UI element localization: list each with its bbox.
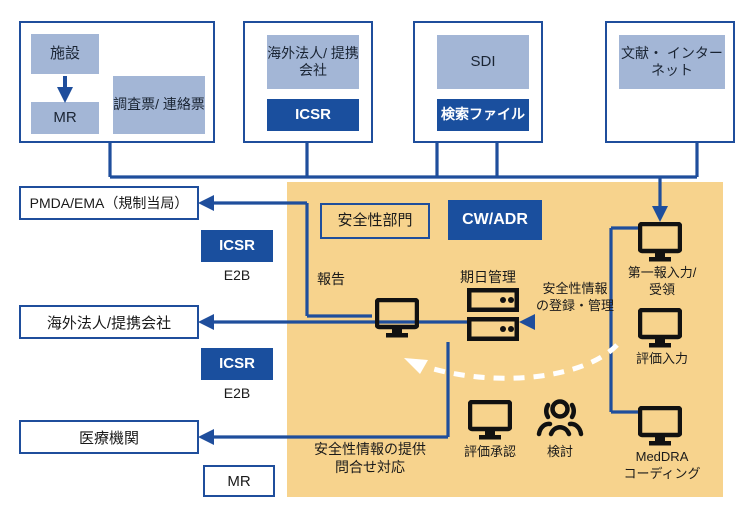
facility-to-mr-arrow — [21, 23, 217, 145]
badge-icsr-2: ICSR — [201, 348, 273, 380]
station-label-meddra-coding: MedDRA コーディング — [608, 449, 716, 483]
arrow-to-medical-institution — [198, 429, 214, 445]
flow-label-provide-info: 安全性情報の提供 問合せ対応 — [294, 440, 446, 476]
source-box-literature: 文献・ インターネット — [605, 21, 735, 143]
server-rack-icon-2 — [467, 317, 519, 341]
diagram-canvas: 施設 MR 調査票/ 連絡票 海外法人/ 提携会社 ICSR SDI 検索ファイ… — [0, 0, 750, 520]
source-box-facility: 施設 MR 調査票/ 連絡票 — [19, 21, 215, 143]
arrow-to-pmda — [198, 195, 214, 211]
target-box-pmda: PMDA/EMA（規制当局） — [19, 186, 199, 220]
arrow-into-first-report — [652, 206, 668, 222]
target-label-medical-institution: 医療機関 — [79, 427, 139, 448]
badge-sub-e2b-2: E2B — [201, 384, 273, 402]
source-box-sdi: SDI 検索ファイル — [413, 21, 543, 143]
monitor-icon-evaluation-input — [638, 308, 682, 348]
target-label-pmda: PMDA/EMA（規制当局） — [30, 193, 189, 213]
station-label-first-report-input: 第一報入力/ 受領 — [612, 265, 712, 299]
arrow-to-overseas-affiliate — [198, 314, 214, 330]
chip-literature-internet: 文献・ インターネット — [619, 35, 725, 89]
flow-label-report: 報告 — [296, 270, 366, 288]
badge-icsr-1: ICSR — [201, 230, 273, 262]
label-mr-bottom: MR — [227, 473, 250, 490]
chip-sdi: SDI — [437, 35, 529, 89]
chip-search-file: 検索ファイル — [437, 99, 529, 131]
flow-label-deadline-management: 期日管理 — [440, 268, 536, 286]
monitor-icon-report — [375, 298, 419, 338]
monitor-icon-meddra-coding — [638, 406, 682, 446]
arrow-to-deadline-management — [519, 314, 535, 330]
badge-sub-e2b-1: E2B — [201, 266, 273, 284]
station-label-evaluation-approval: 評価承認 — [450, 444, 530, 461]
target-box-medical-institution: 医療機関 — [19, 420, 199, 454]
target-label-overseas-affiliate: 海外法人/提携会社 — [47, 312, 171, 333]
chip-overseas-affiliate: 海外法人/ 提携会社 — [267, 35, 359, 89]
chip-cw-adr: CW/ADR — [448, 200, 542, 240]
feedback-dashed-arrow — [430, 345, 617, 378]
people-group-icon-review — [534, 398, 586, 440]
server-rack-icon-1 — [467, 288, 519, 312]
target-box-overseas-affiliate: 海外法人/提携会社 — [19, 305, 199, 339]
flow-label-register-manage: 安全性情報 の登録・管理 — [528, 281, 622, 315]
chip-icsr-source: ICSR — [267, 99, 359, 131]
box-mr-bottom: MR — [203, 465, 275, 497]
monitor-icon-evaluation-approval — [468, 400, 512, 440]
chip-safety-department: 安全性部門 — [320, 203, 430, 239]
feedback-arrowhead — [404, 358, 428, 374]
source-box-overseas: 海外法人/ 提携会社 ICSR — [243, 21, 373, 143]
station-label-evaluation-input: 評価入力 — [612, 351, 712, 368]
station-label-review: 検討 — [530, 444, 590, 461]
monitor-icon-first-report-input — [638, 222, 682, 262]
